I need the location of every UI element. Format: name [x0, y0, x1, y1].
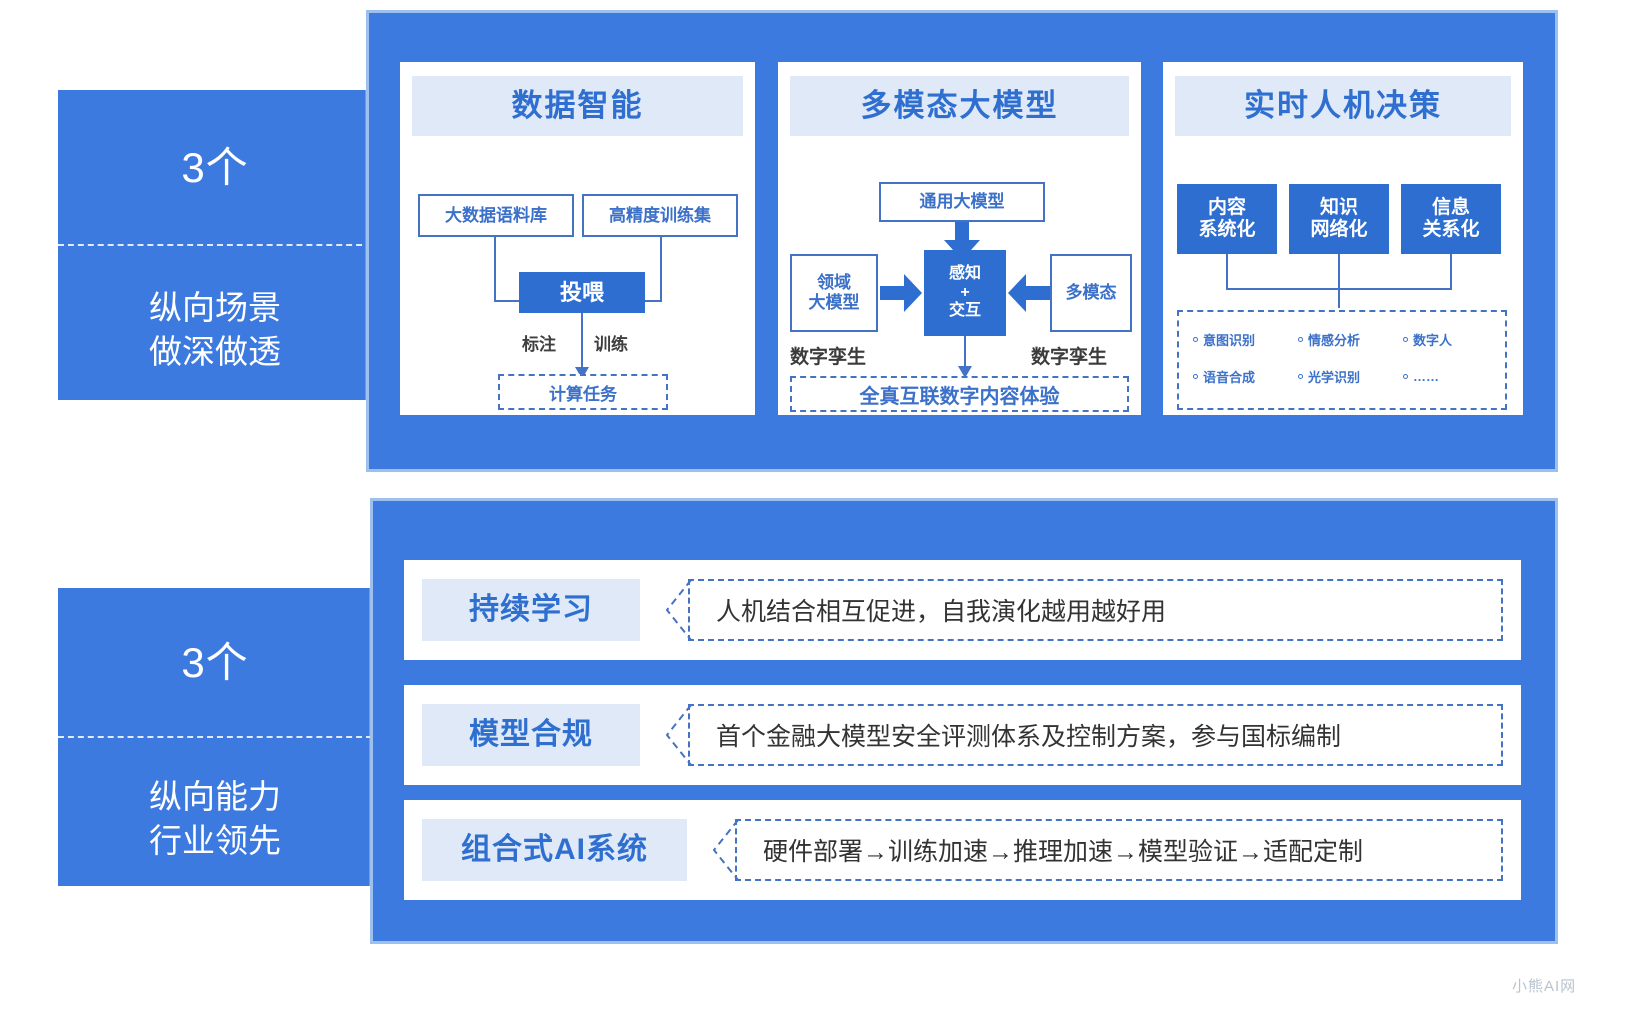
node-full-reality-experience: 全真互联数字内容体验: [790, 376, 1129, 412]
node-knowledge-networking: 知识 网络化: [1289, 184, 1389, 254]
callout-box-3: 硬件部署→训练加速→推理加速→模型验证→适配定制: [735, 819, 1503, 881]
bullet-dot-icon: [1298, 374, 1303, 379]
connector-feeding-down: [581, 313, 583, 373]
node-perception-interaction: 感知 + 交互: [924, 250, 1006, 336]
node-multimodal: 多模态: [1050, 254, 1132, 332]
callout-box-1: 人机结合相互促进，自我演化越用越好用: [688, 579, 1503, 641]
feature-list-box: 意图识别 情感分析 数字人 语音合成 光学识别: [1177, 310, 1507, 410]
node-content-systemization: 内容 系统化: [1177, 184, 1277, 254]
key-text-2: 纵向能力 行业领先: [149, 761, 281, 862]
key-count-2: 3个: [181, 629, 248, 696]
key-text-wrap-1: 纵向场景 做深做透: [58, 246, 372, 400]
diagram-canvas: 3个 纵向场景 做深做透 3个 纵向能力 行业领先 数据智能 大数据语料库 高精…: [0, 0, 1627, 1018]
panel-title-3: 实时人机决策: [1175, 76, 1511, 136]
feature-label: 光学识别: [1308, 367, 1360, 386]
panel-title-2: 多模态大模型: [790, 76, 1129, 136]
row-label-continuous-learning: 持续学习: [422, 579, 640, 641]
feature-item: 情感分析: [1298, 330, 1397, 349]
capability-row-continuous-learning: 持续学习 人机结合相互促进，自我演化越用越好用: [404, 560, 1521, 660]
bullet-dot-icon: [1193, 374, 1198, 379]
arrow-left-thick-icon: [1008, 274, 1050, 312]
node-compute-task: 计算任务: [498, 374, 668, 410]
feature-item: 数字人: [1403, 330, 1493, 349]
node-high-precision-trainset: 高精度训练集: [582, 194, 738, 237]
feature-label: 情感分析: [1308, 330, 1360, 349]
connector-corpus-down: [494, 237, 496, 302]
edge-label-train: 训练: [594, 330, 628, 355]
connector-trainset-down: [660, 237, 662, 302]
bullet-dot-icon: [1193, 337, 1198, 342]
node-general-large-model: 通用大模型: [879, 182, 1045, 222]
key-count-1: 3个: [181, 134, 248, 201]
node-information-relation: 信息 关系化: [1401, 184, 1501, 254]
panel-data-intelligence: 数据智能 大数据语料库 高精度训练集 投喂 标注 训练 计算任务: [400, 62, 755, 415]
node-big-data-corpus: 大数据语料库: [418, 194, 574, 237]
key-text-1: 纵向场景 做深做透: [149, 272, 281, 373]
connector-bottom-join: [1226, 288, 1452, 290]
capability-row-model-compliance: 模型合规 首个金融大模型安全评测体系及控制方案，参与国标编制: [404, 685, 1521, 785]
feature-item: 语音合成: [1193, 367, 1292, 386]
key-text-wrap-2: 纵向能力 行业领先: [58, 738, 372, 886]
node-feeding: 投喂: [519, 272, 645, 313]
key-count-wrap-2: 3个: [58, 588, 372, 736]
connector-col3-down: [1450, 254, 1452, 290]
row-label-model-compliance: 模型合规: [422, 704, 640, 766]
row-label-composite-ai-system: 组合式AI系统: [422, 819, 687, 881]
panel-multimodal-model: 多模态大模型 通用大模型 领域 大模型 感知 + 交互 多模态 数字孪生 数字孪…: [778, 62, 1141, 415]
capability-row-composite-ai-system: 组合式AI系统 硬件部署→训练加速→推理加速→模型验证→适配定制: [404, 800, 1521, 900]
panel-realtime-decision: 实时人机决策 内容 系统化 知识 网络化 信息 关系化 意图识别 情感分析 数字…: [1163, 62, 1523, 415]
feature-label: 数字人: [1413, 330, 1452, 349]
key-block-vertical-scenario: 3个 纵向场景 做深做透: [58, 90, 372, 400]
callout-box-2: 首个金融大模型安全评测体系及控制方案，参与国标编制: [688, 704, 1503, 766]
node-domain-large-model: 领域 大模型: [790, 254, 878, 332]
feature-item: 意图识别: [1193, 330, 1292, 349]
caption-digital-twin-left: 数字孪生: [790, 342, 866, 369]
feature-label: ……: [1413, 369, 1439, 384]
bullet-dot-icon: [1403, 337, 1408, 342]
feature-item: 光学识别: [1298, 367, 1397, 386]
key-count-wrap-1: 3个: [58, 90, 372, 244]
connector-col2-down: [1338, 254, 1340, 308]
key-block-vertical-capability: 3个 纵向能力 行业领先: [58, 588, 372, 886]
feature-item: ……: [1403, 367, 1493, 386]
panel-title-1: 数据智能: [412, 76, 743, 136]
row-callout-3: 硬件部署→训练加速→推理加速→模型验证→适配定制: [713, 819, 1503, 881]
row-callout-2: 首个金融大模型安全评测体系及控制方案，参与国标编制: [666, 704, 1503, 766]
bullet-dot-icon: [1403, 374, 1408, 379]
watermark: 小熊AI网: [1512, 975, 1576, 996]
connector-col1-down: [1226, 254, 1228, 290]
row-callout-1: 人机结合相互促进，自我演化越用越好用: [666, 579, 1503, 641]
callout-text-3: 硬件部署→训练加速→推理加速→模型验证→适配定制: [737, 832, 1363, 868]
callout-text-2: 首个金融大模型安全评测体系及控制方案，参与国标编制: [690, 717, 1341, 753]
arrow-right-thick-icon: [880, 274, 922, 312]
bullet-dot-icon: [1298, 337, 1303, 342]
callout-text-1: 人机结合相互促进，自我演化越用越好用: [690, 592, 1166, 628]
edge-label-annotate: 标注: [522, 330, 556, 355]
feature-label: 语音合成: [1203, 367, 1255, 386]
caption-digital-twin-right: 数字孪生: [1031, 342, 1107, 369]
feature-label: 意图识别: [1203, 330, 1255, 349]
